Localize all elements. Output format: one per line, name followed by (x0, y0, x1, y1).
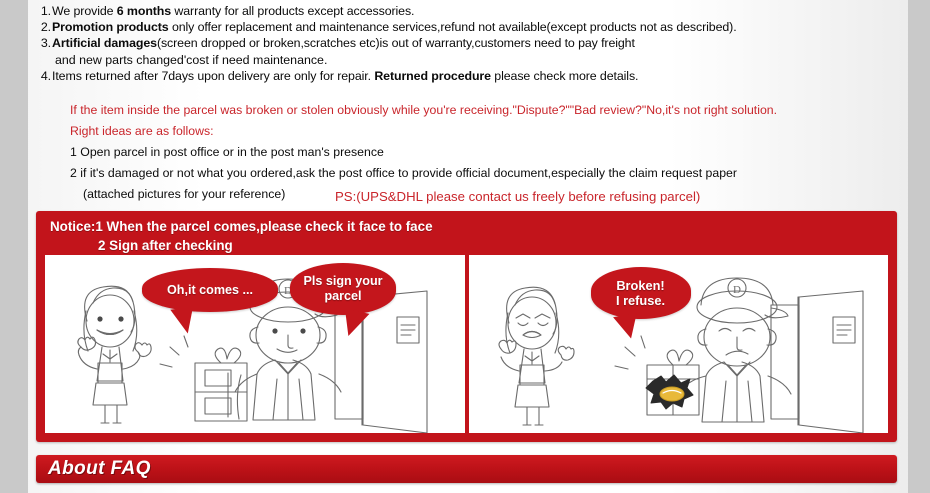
content-area: 1. We provide 6 months warranty for all … (28, 0, 908, 493)
speech-bubble-customer-refusal: Broken! I refuse. (591, 267, 691, 319)
term-number: 2. (36, 19, 52, 35)
term-seg: Items returned after 7days upon delivery… (52, 69, 374, 83)
term-text: We provide 6 months warranty for all pro… (52, 3, 904, 19)
advisory-ps-note: PS:(UPS&DHL please contact us freely bef… (335, 189, 700, 204)
term-text: Promotion products only offer replacemen… (52, 19, 904, 35)
happy-customer-figure (78, 286, 151, 423)
term-seg: We provide (52, 4, 117, 18)
term-item: 3. Artificial damages(screen dropped or … (36, 35, 904, 51)
term-number: 1. (36, 3, 52, 19)
term-number: 3. (36, 35, 52, 51)
term-seg: (screen dropped or broken,scratches etc)… (157, 36, 635, 50)
panel-correct-delivery: D (45, 255, 465, 433)
advisory-step-2: 2 if it's damaged or not what you ordere… (70, 163, 900, 184)
about-faq-banner: About FAQ (36, 455, 897, 483)
term-continuation: and new parts changed'cost if need maint… (36, 52, 904, 68)
speech-bubble-tail (613, 313, 641, 341)
upset-customer-figure (499, 287, 574, 425)
speech-bubble-text: Pls sign your parcel (290, 274, 396, 304)
notice-line-1: Notice:1 When the parcel comes,please ch… (50, 217, 897, 236)
term-number: 4. (36, 68, 52, 84)
svg-text:D: D (733, 284, 741, 296)
illustration-panels: D (45, 255, 888, 433)
speech-bubble-tail (340, 309, 370, 340)
term-seg: only offer replacement and maintenance s… (169, 20, 737, 34)
term-item: 1. We provide 6 months warranty for all … (36, 3, 904, 19)
notice-banner: Notice:1 When the parcel comes,please ch… (36, 211, 897, 442)
term-text: Artificial damages(screen dropped or bro… (52, 35, 904, 51)
right-gutter (908, 0, 930, 493)
term-seg-bold: Returned procedure (374, 69, 491, 83)
term-item: 4. Items returned after 7days upon deliv… (36, 68, 904, 84)
term-seg-bold: Promotion products (52, 20, 169, 34)
advisory-line-warning: If the item inside the parcel was broken… (70, 100, 900, 121)
panel-refused-delivery: D (469, 255, 889, 433)
term-item: 2. Promotion products only offer replace… (36, 19, 904, 35)
speech-bubble-postman-request: Pls sign your parcel (290, 263, 396, 315)
speech-bubble-customer-greeting: Oh,it comes ... (142, 268, 278, 312)
term-seg-bold: 6 months (117, 4, 171, 18)
left-gutter (0, 0, 28, 493)
term-seg-bold: Artificial damages (52, 36, 157, 50)
term-seg: please check more details. (491, 69, 638, 83)
speech-bubble-text: Broken! I refuse. (616, 278, 665, 308)
notice-heading: Notice:1 When the parcel comes,please ch… (36, 211, 897, 255)
speech-bubble-text: Oh,it comes ... (167, 283, 253, 298)
term-text: Items returned after 7days upon delivery… (52, 68, 904, 84)
term-seg: warranty for all products except accesso… (171, 4, 414, 18)
about-faq-title: About FAQ (48, 458, 151, 480)
advisory-block: If the item inside the parcel was broken… (70, 100, 900, 205)
advisory-line-intro: Right ideas are as follows: (70, 121, 900, 142)
notice-line-2: 2 Sign after checking (50, 236, 897, 255)
advisory-step-1: 1 Open parcel in post office or in the p… (70, 142, 900, 163)
warranty-terms-list: 1. We provide 6 months warranty for all … (36, 3, 904, 84)
speech-bubble-tail (170, 307, 196, 336)
page-root: 1. We provide 6 months warranty for all … (0, 0, 930, 493)
